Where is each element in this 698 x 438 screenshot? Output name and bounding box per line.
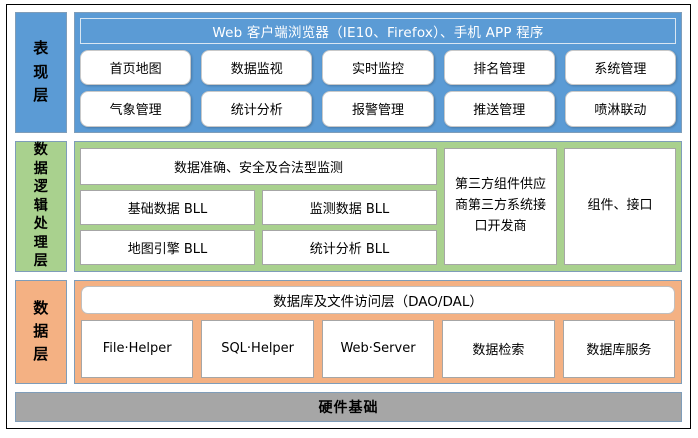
module-row-1: 首页地图 数据监视 实时监控 排名管理 系统管理 <box>80 50 676 85</box>
module-realtime-monitoring[interactable]: 实时监控 <box>322 50 433 85</box>
data-cell-file-helper: File·Helper <box>81 320 193 378</box>
module-push-management[interactable]: 推送管理 <box>444 91 555 126</box>
module-system-management[interactable]: 系统管理 <box>565 50 676 85</box>
bll-monitoring-data: 监测数据 BLL <box>262 190 437 225</box>
data-layer-label: 数据层 <box>15 280 67 384</box>
dao-dal-bar: 数据库及文件访问层（DAO/DAL） <box>81 286 675 314</box>
module-alarm-management[interactable]: 报警管理 <box>322 91 433 126</box>
presentation-layer-label-text: 表现层 <box>33 37 50 107</box>
module-grid: 首页地图 数据监视 实时监控 排名管理 系统管理 气象管理 统计分析 报警管理 … <box>80 49 676 127</box>
data-layer: 数据层 数据库及文件访问层（DAO/DAL） File·Helper SQL·H… <box>15 280 682 384</box>
bll-map-engine: 地图引擎 BLL <box>80 230 255 265</box>
browser-client-bar: Web 客户端浏览器（IE10、Firefox）、手机 APP 程序 <box>80 18 676 44</box>
module-sprinkler-linkage[interactable]: 喷淋联动 <box>565 91 676 126</box>
data-logic-layer-body: 数据准确、安全及合法型监测 基础数据 BLL 监测数据 BLL 地图引擎 BLL… <box>74 141 682 272</box>
bll-row-2: 地图引擎 BLL 统计分析 BLL <box>80 230 437 265</box>
data-cell-data-retrieval: 数据检索 <box>442 320 554 378</box>
data-layer-label-text: 数据层 <box>33 297 50 367</box>
module-ranking-management[interactable]: 排名管理 <box>444 50 555 85</box>
module-statistical-analysis[interactable]: 统计分析 <box>201 91 312 126</box>
presentation-layer: 表现层 Web 客户端浏览器（IE10、Firefox）、手机 APP 程序 首… <box>15 12 682 133</box>
browser-client-bar-text: Web 客户端浏览器（IE10、Firefox）、手机 APP 程序 <box>212 21 543 41</box>
bll-row-1: 基础数据 BLL 监测数据 BLL <box>80 190 437 225</box>
data-cell-database-service: 数据库服务 <box>563 320 675 378</box>
data-cell-sql-helper: SQL·Helper <box>201 320 313 378</box>
data-logic-layer-label-text: 数据逻辑处理层 <box>33 141 50 270</box>
hardware-foundation-bar: 硬件基础 <box>15 392 682 422</box>
data-logic-layer: 数据逻辑处理层 数据准确、安全及合法型监测 基础数据 BLL 监测数据 BLL … <box>15 141 682 272</box>
module-home-map[interactable]: 首页地图 <box>80 50 191 85</box>
presentation-layer-label: 表现层 <box>15 12 67 133</box>
module-weather-management[interactable]: 气象管理 <box>80 91 191 126</box>
bll-group: 数据准确、安全及合法型监测 基础数据 BLL 监测数据 BLL 地图引擎 BLL… <box>80 148 437 265</box>
dao-dal-bar-text: 数据库及文件访问层（DAO/DAL） <box>273 290 483 310</box>
hardware-foundation-label: 硬件基础 <box>319 397 379 417</box>
data-access-grid: File·Helper SQL·Helper Web·Server 数据检索 数… <box>81 320 675 378</box>
data-logic-layer-label: 数据逻辑处理层 <box>15 141 67 272</box>
data-integrity-monitor-box: 数据准确、安全及合法型监测 <box>80 148 437 185</box>
third-party-vendor-box: 第三方组件供应商第三方系统接口开发商 <box>444 148 557 265</box>
data-cell-web-server: Web·Server <box>322 320 434 378</box>
architecture-diagram: 表现层 Web 客户端浏览器（IE10、Firefox）、手机 APP 程序 首… <box>6 4 691 429</box>
data-layer-body: 数据库及文件访问层（DAO/DAL） File·Helper SQL·Helpe… <box>74 280 682 384</box>
module-row-2: 气象管理 统计分析 报警管理 推送管理 喷淋联动 <box>80 91 676 126</box>
component-interface-box: 组件、接口 <box>564 148 676 265</box>
module-data-monitoring[interactable]: 数据监视 <box>201 50 312 85</box>
bll-statistical-analysis: 统计分析 BLL <box>262 230 437 265</box>
presentation-layer-body: Web 客户端浏览器（IE10、Firefox）、手机 APP 程序 首页地图 … <box>74 12 682 133</box>
bll-base-data: 基础数据 BLL <box>80 190 255 225</box>
